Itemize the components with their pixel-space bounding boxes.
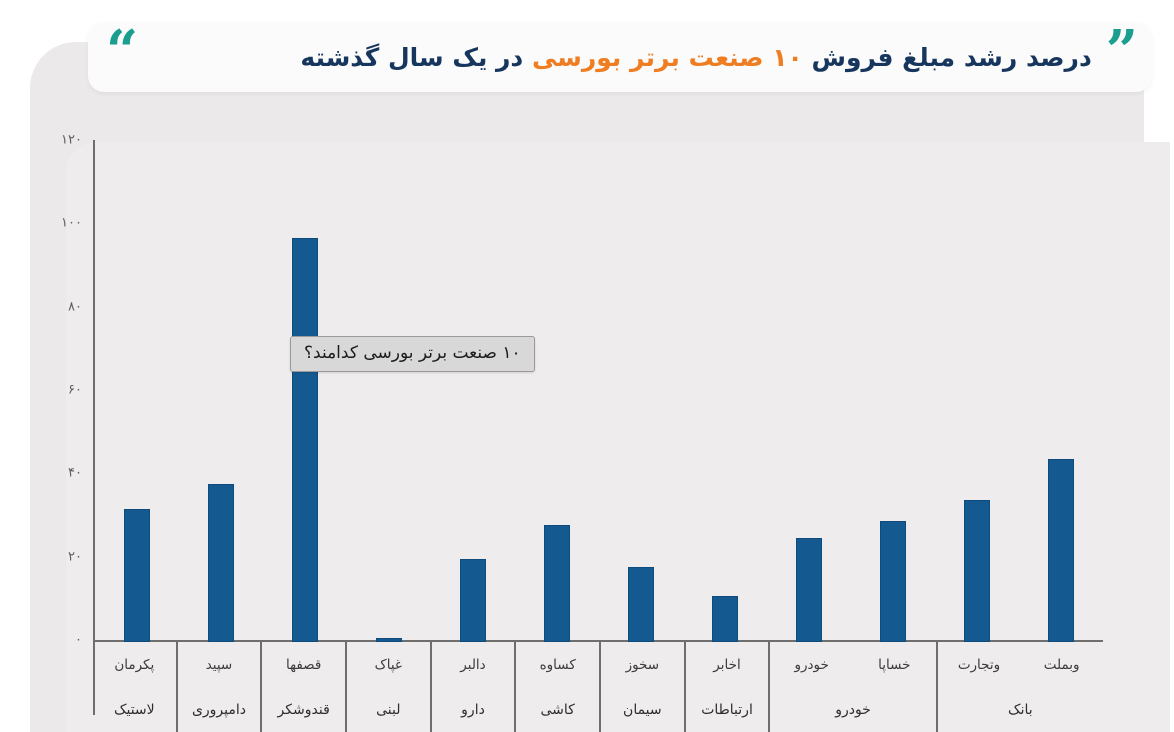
category-item-label: وبملت <box>1020 642 1103 688</box>
category-item-label: اخابر <box>686 642 769 688</box>
bars-container <box>95 96 1103 642</box>
category-item-label: پکرمان <box>93 642 176 688</box>
category-group: کساوهکاشی <box>514 642 599 732</box>
bar-slot <box>851 96 935 642</box>
category-group-label: خودرو <box>770 688 935 732</box>
category-item-row: وبملتوتجارت <box>938 642 1103 688</box>
category-group-label: دارو <box>432 688 515 732</box>
category-group: خساپاخودروخودرو <box>768 642 935 732</box>
category-item-label: سپید <box>178 642 261 688</box>
y-axis-tick: ۴۰ <box>68 466 82 481</box>
category-item-label: خودرو <box>770 642 853 688</box>
category-group: قصفهاقندوشکر <box>260 642 345 732</box>
category-item-row: سپید <box>178 642 261 688</box>
chart-screen: ” درصد رشد مبلغ فروش ۱۰ صنعت برتر بورسی … <box>0 0 1174 732</box>
category-group: سپیددامپروری <box>176 642 261 732</box>
page-title: درصد رشد مبلغ فروش ۱۰ صنعت برتر بورسی در… <box>148 43 1092 72</box>
bar[interactable] <box>628 567 654 642</box>
chart-title-bar: ” درصد رشد مبلغ فروش ۱۰ صنعت برتر بورسی … <box>88 22 1152 92</box>
category-group: پکرمانلاستیک <box>93 642 176 732</box>
category-group-label: لبنی <box>347 688 430 732</box>
category-item-label: غپاک <box>347 642 430 688</box>
category-item-label: خساپا <box>853 642 936 688</box>
category-group: غپاکلبنی <box>345 642 430 732</box>
category-label-table: وبملتوتجارتبانکخساپاخودروخودرواخابرارتبا… <box>93 642 1103 732</box>
category-group-label: قندوشکر <box>262 688 345 732</box>
title-suffix: در یک سال گذشته <box>300 43 523 72</box>
category-group-label: لاستیک <box>93 688 176 732</box>
tooltip: ۱۰ صنعت برتر بورسی کدامند؟ <box>290 336 535 372</box>
category-item-label: سخوز <box>601 642 684 688</box>
category-item-label: قصفها <box>262 642 345 688</box>
y-axis-tick: ۲۰ <box>68 549 82 564</box>
bar-slot <box>683 96 767 642</box>
category-group-label: کاشی <box>516 688 599 732</box>
y-axis-tick: ۰ <box>75 633 82 648</box>
bar[interactable] <box>964 500 990 642</box>
bar[interactable] <box>1048 459 1074 642</box>
bar-slot <box>1019 96 1103 642</box>
category-group: دالبردارو <box>430 642 515 732</box>
bar-slot <box>599 96 683 642</box>
category-group: وبملتوتجارتبانک <box>936 642 1103 732</box>
chart-area: ۱۲۰۱۰۰۸۰۶۰۴۰۲۰۰ ۱۰ صنعت برتر بورسی کدامن… <box>0 96 1174 732</box>
y-axis-tick: ۱۰۰ <box>61 216 82 231</box>
category-item-row: قصفها <box>262 642 345 688</box>
category-group: سخوزسیمان <box>599 642 684 732</box>
quote-close-icon: ” <box>1106 23 1134 79</box>
category-item-row: اخابر <box>686 642 769 688</box>
category-item-label: دالبر <box>432 642 515 688</box>
category-item-row: کساوه <box>516 642 599 688</box>
bar[interactable] <box>208 484 234 642</box>
y-axis-tick: ۸۰ <box>68 299 82 314</box>
bar-slot <box>935 96 1019 642</box>
bar-slot <box>767 96 851 642</box>
title-prefix: درصد رشد مبلغ فروش <box>812 43 1092 72</box>
bar[interactable] <box>880 521 906 642</box>
y-axis-tick: ۱۲۰ <box>61 133 82 148</box>
y-axis-tick-labels: ۱۲۰۱۰۰۸۰۶۰۴۰۲۰۰ <box>34 96 90 656</box>
category-item-row: پکرمان <box>93 642 176 688</box>
title-highlight: ۱۰ صنعت برتر بورسی <box>532 43 803 72</box>
bar[interactable] <box>124 509 150 642</box>
bar[interactable] <box>460 559 486 642</box>
category-item-row: خساپاخودرو <box>770 642 935 688</box>
bar-slot <box>179 96 263 642</box>
category-group: اخابرارتباطات <box>684 642 769 732</box>
bar-slot <box>95 96 179 642</box>
category-group-label: دامپروری <box>178 688 261 732</box>
category-group-label: سیمان <box>601 688 684 732</box>
bar[interactable] <box>544 525 570 642</box>
y-axis-tick: ۶۰ <box>68 383 82 398</box>
category-item-row: دالبر <box>432 642 515 688</box>
category-item-row: سخوز <box>601 642 684 688</box>
bar[interactable] <box>796 538 822 642</box>
category-item-label: کساوه <box>516 642 599 688</box>
bar[interactable] <box>292 238 318 642</box>
category-group-label: بانک <box>938 688 1103 732</box>
bar[interactable] <box>712 596 738 642</box>
category-group-label: ارتباطات <box>686 688 769 732</box>
category-item-row: غپاک <box>347 642 430 688</box>
quote-open-icon: “ <box>106 23 134 79</box>
category-item-label: وتجارت <box>938 642 1021 688</box>
